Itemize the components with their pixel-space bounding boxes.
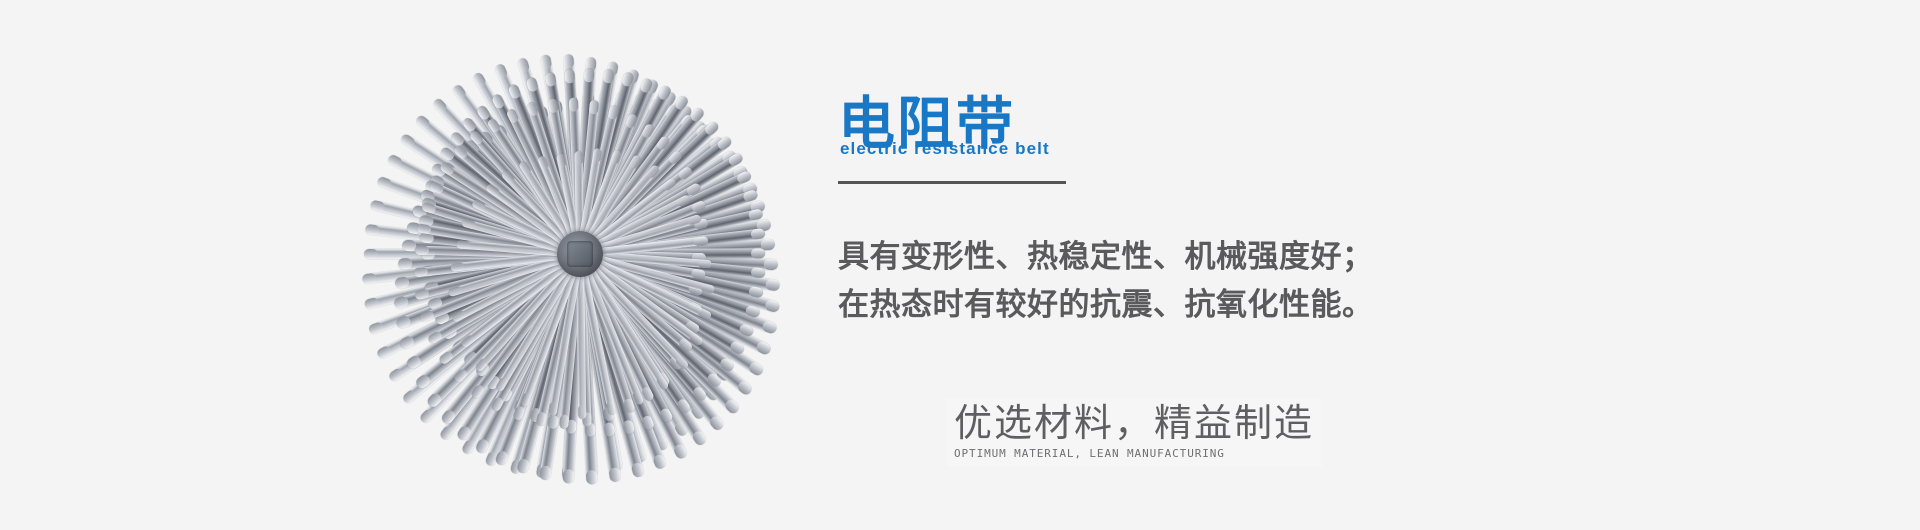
slogan-en: OPTIMUM MATERIAL, LEAN MANUFACTURING	[954, 447, 1314, 461]
slogan-watermark: 优选材料，精益制造 OPTIMUM MATERIAL, LEAN MANUFAC…	[946, 398, 1322, 467]
description-line-2: 在热态时有较好的抗震、抗氧化性能。	[838, 281, 1598, 329]
product-image	[370, 48, 790, 460]
center-hub	[557, 231, 603, 277]
title-divider	[838, 181, 1066, 184]
description-line-1: 具有变形性、热稳定性、机械强度好；	[838, 233, 1598, 281]
product-banner: 电阻带 electric resistance belt 具有变形性、热稳定性、…	[0, 0, 1920, 530]
page-subtitle: electric resistance belt	[840, 140, 1050, 157]
slogan-cn: 优选材料，精益制造	[954, 402, 1314, 446]
description-block: 具有变形性、热稳定性、机械强度好； 在热态时有较好的抗震、抗氧化性能。	[838, 233, 1598, 329]
